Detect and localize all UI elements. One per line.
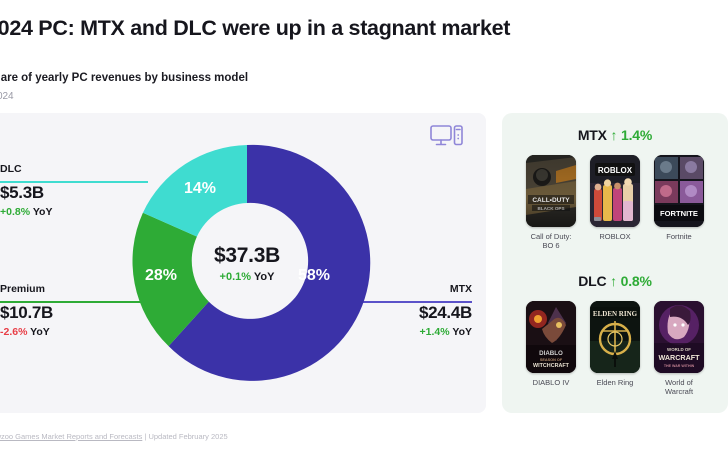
callout-dlc-yoy-pct: +0.8% <box>0 206 30 218</box>
game-cover-roblox[interactable]: ROBLOX <box>590 155 640 227</box>
svg-text:DIABLO: DIABLO <box>539 350 563 357</box>
games-group-dlc-heading: DLC ↑ 0.8% <box>502 273 728 289</box>
games-group-mtx-cards: CALL•DUTY BLACK OPS Call of Duty: BO 6 <box>502 155 728 251</box>
game-card[interactable]: WORLD OF WARCRAFT THE WAR WITHIN World o… <box>654 301 704 397</box>
footer: Newzoo Games Market Reports and Forecast… <box>0 432 228 441</box>
callout-dlc-yoy-suffix: YoY <box>33 206 53 218</box>
callout-mtx-value: $24.4B <box>419 303 472 323</box>
desktop-pc-icon <box>430 124 464 150</box>
svg-text:ELDEN RING: ELDEN RING <box>593 310 638 318</box>
games-panel: MTX ↑ 1.4% CALL•D <box>502 113 728 413</box>
games-group-mtx: MTX ↑ 1.4% CALL•D <box>502 127 728 251</box>
games-group-dlc: DLC ↑ 0.8% DIABLO <box>502 273 728 397</box>
game-card[interactable]: ROBLOX ROBLOX <box>590 155 640 251</box>
game-cover-call-of-duty[interactable]: CALL•DUTY BLACK OPS <box>526 155 576 227</box>
game-card[interactable]: ELDEN RING Elden Ring <box>590 301 640 397</box>
game-title: ROBLOX <box>590 232 640 241</box>
svg-text:ROBLOX: ROBLOX <box>598 166 633 175</box>
game-card[interactable]: FORTNITE Fortnite <box>654 155 704 251</box>
game-title: Elden Ring <box>590 378 640 387</box>
games-group-dlc-label: DLC <box>578 273 606 289</box>
callout-dlc-yoy: +0.8% YoY <box>0 206 52 218</box>
game-title: World of Warcraft <box>654 378 704 397</box>
games-group-mtx-heading: MTX ↑ 1.4% <box>502 127 728 143</box>
svg-text:WARCRAFT: WARCRAFT <box>658 353 700 362</box>
svg-text:FORTNITE: FORTNITE <box>660 209 698 218</box>
svg-text:SEASON OF: SEASON OF <box>540 358 563 362</box>
callout-premium: Premium $10.7B -2.6% YoY <box>0 283 53 338</box>
slide-root: 2024 PC: MTX and DLC were up in a stagna… <box>0 0 728 464</box>
donut-label-dlc: 14% <box>184 180 216 197</box>
game-card[interactable]: CALL•DUTY BLACK OPS Call of Duty: BO 6 <box>526 155 576 251</box>
game-cover-world-of-warcraft[interactable]: WORLD OF WARCRAFT THE WAR WITHIN <box>654 301 704 373</box>
svg-text:WITCHCRAFT: WITCHCRAFT <box>533 363 570 369</box>
footer-updated: Updated February 2025 <box>148 432 227 441</box>
game-cover-diablo-iv[interactable]: DIABLO SEASON OF WITCHCRAFT <box>526 301 576 373</box>
game-title: DIABLO IV <box>526 378 576 387</box>
arrow-up-icon: ↑ <box>610 273 617 289</box>
callout-dlc-value: $5.3B <box>0 183 52 203</box>
donut-label-premium: 28% <box>145 267 177 284</box>
page-subtitle: Share of yearly PC revenues by business … <box>0 72 248 84</box>
game-title: Fortnite <box>654 232 704 241</box>
games-group-mtx-pct: 1.4% <box>621 127 652 143</box>
game-cover-fortnite[interactable]: FORTNITE <box>654 155 704 227</box>
callout-mtx-yoy-pct: +1.4% <box>420 326 450 338</box>
callout-premium-name: Premium <box>0 283 53 295</box>
callout-premium-yoy: -2.6% YoY <box>0 326 53 338</box>
games-group-dlc-cards: DIABLO SEASON OF WITCHCRAFT DIABLO IV <box>502 301 728 397</box>
callout-mtx-yoy-suffix: YoY <box>452 326 472 338</box>
callout-mtx-yoy: +1.4% YoY <box>419 326 472 338</box>
callout-dlc: DLC $5.3B +0.8% YoY <box>0 163 52 218</box>
donut-label-mtx: 58% <box>298 267 330 284</box>
svg-text:THE WAR WITHIN: THE WAR WITHIN <box>664 364 695 368</box>
callout-premium-value: $10.7B <box>0 303 53 323</box>
page-title: 2024 PC: MTX and DLC were up in a stagna… <box>0 16 728 41</box>
game-cover-elden-ring[interactable]: ELDEN RING <box>590 301 640 373</box>
games-group-mtx-label: MTX <box>578 127 607 143</box>
callout-mtx-name: MTX <box>419 283 472 295</box>
game-title: Call of Duty: BO 6 <box>526 232 576 251</box>
donut-chart: 58% 28% 14% $37.3B +0.1% YoY <box>117 133 377 393</box>
callout-dlc-name: DLC <box>0 163 52 175</box>
games-group-dlc-pct: 0.8% <box>621 273 652 289</box>
page-subnote: | 2024 <box>0 91 14 102</box>
game-card[interactable]: DIABLO SEASON OF WITCHCRAFT DIABLO IV <box>526 301 576 397</box>
callout-premium-yoy-pct: -2.6% <box>0 326 27 338</box>
svg-text:WORLD OF: WORLD OF <box>667 347 691 352</box>
footer-source-link[interactable]: Newzoo Games Market Reports and Forecast… <box>0 432 142 441</box>
chart-panel: 58% 28% 14% $37.3B +0.1% YoY DLC $5.3B +… <box>0 113 486 413</box>
callout-premium-yoy-suffix: YoY <box>30 326 50 338</box>
arrow-up-icon: ↑ <box>611 127 618 143</box>
callout-mtx: MTX $24.4B +1.4% YoY <box>419 283 472 338</box>
